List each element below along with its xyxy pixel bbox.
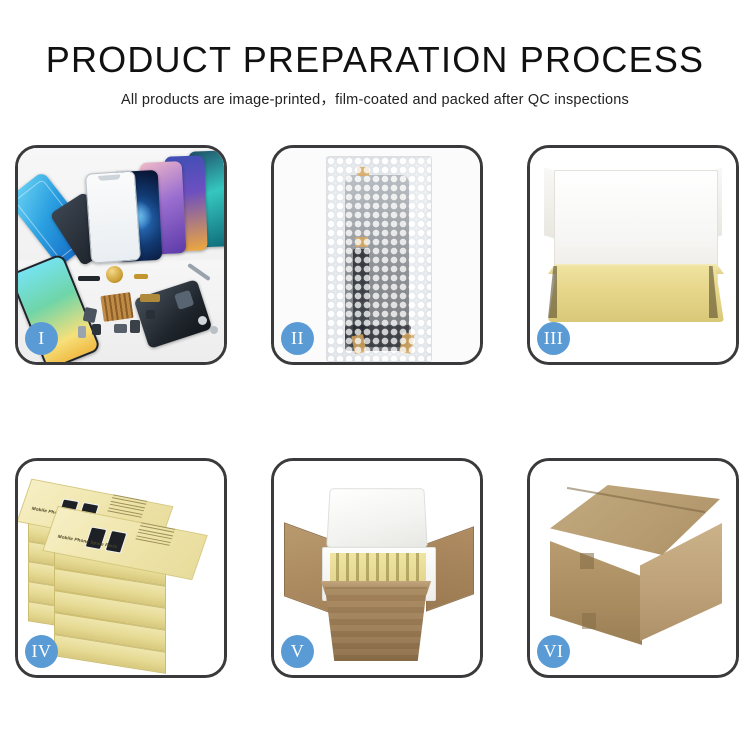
speaker-module-icon — [106, 266, 123, 283]
step-badge-1: I — [25, 322, 58, 355]
page-header: PRODUCT PREPARATION PROCESS All products… — [0, 0, 750, 110]
step-card-4[interactable]: Mobile Phone Spare Parts Mobile Phone Sp… — [15, 458, 227, 678]
step-card-5[interactable]: V — [271, 458, 483, 678]
carton-tape-icon-1 — [580, 553, 594, 569]
step-badge-2: II — [281, 322, 314, 355]
part-icon-6 — [130, 320, 140, 333]
part-icon-8 — [140, 294, 160, 302]
tape-icon-4 — [399, 332, 414, 354]
step-badge-3: III — [537, 322, 570, 355]
carton-tape-icon-2 — [582, 613, 596, 629]
screw-icon-1 — [198, 316, 207, 325]
step-card-3[interactable]: III — [527, 145, 739, 365]
step-badge-4: IV — [25, 635, 58, 668]
process-steps-grid: I II III — [15, 145, 738, 678]
step-badge-5: V — [281, 635, 314, 668]
step-card-2[interactable]: II — [271, 145, 483, 365]
step-card-1[interactable]: I — [15, 145, 227, 365]
part-icon-5 — [114, 324, 127, 333]
part-icon-7 — [78, 326, 86, 338]
bubble-wrap-bag-icon — [326, 156, 432, 362]
tape-icon-1 — [357, 167, 369, 176]
carton-body-texture — [318, 587, 434, 661]
step-card-6[interactable]: VI — [527, 458, 739, 678]
screw-icon-2 — [210, 326, 218, 334]
part-icon-2 — [134, 274, 148, 279]
page-subtitle: All products are image-printed，film-coat… — [0, 90, 750, 110]
part-icon-9 — [146, 310, 155, 319]
yellow-box-body-icon — [548, 266, 724, 322]
step-badge-6: VI — [537, 635, 570, 668]
chip-array-icon — [100, 292, 133, 322]
styrofoam-lid-icon — [326, 488, 428, 547]
glass-screen-icon — [85, 170, 141, 263]
page-title: PRODUCT PREPARATION PROCESS — [0, 40, 750, 80]
carton-face-left-icon — [550, 541, 642, 645]
tape-icon-2 — [355, 237, 368, 247]
part-icon-4 — [92, 324, 101, 335]
part-icon-1 — [78, 276, 100, 281]
